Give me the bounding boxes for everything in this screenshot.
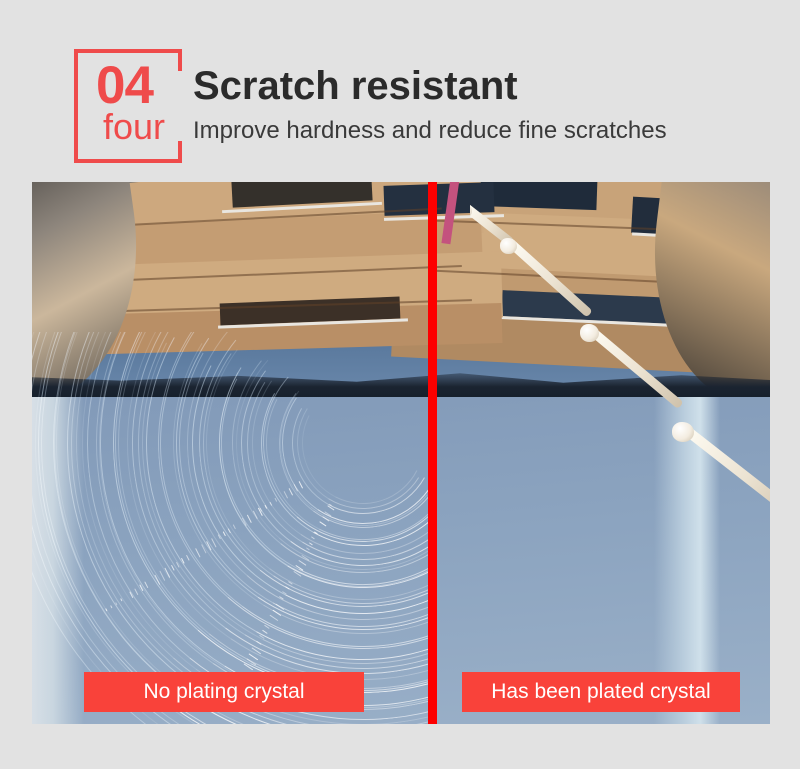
comparison-photo: No plating crystal Has been plated cryst… <box>32 182 770 724</box>
header: 04 four Scratch resistant Improve hardne… <box>0 0 800 182</box>
wiper-joint <box>580 324 599 342</box>
caption-has-plated: Has been plated crystal <box>462 672 740 712</box>
wiper-arm-segment <box>505 237 593 317</box>
caption-no-plating: No plating crystal <box>84 672 364 712</box>
wiper-arm-segment <box>586 325 684 409</box>
badge-number: 04 <box>96 59 153 112</box>
wiper-joint <box>500 238 517 254</box>
step-number-badge: 04 four <box>74 49 182 163</box>
wiper-joint <box>672 422 694 442</box>
comparison-divider <box>428 182 437 724</box>
badge-frame-gap <box>178 71 186 141</box>
badge-word: four <box>103 109 165 145</box>
page-title: Scratch resistant <box>193 65 518 107</box>
page-subtitle: Improve hardness and reduce fine scratch… <box>193 118 667 143</box>
wiper-arm-group <box>470 182 770 724</box>
